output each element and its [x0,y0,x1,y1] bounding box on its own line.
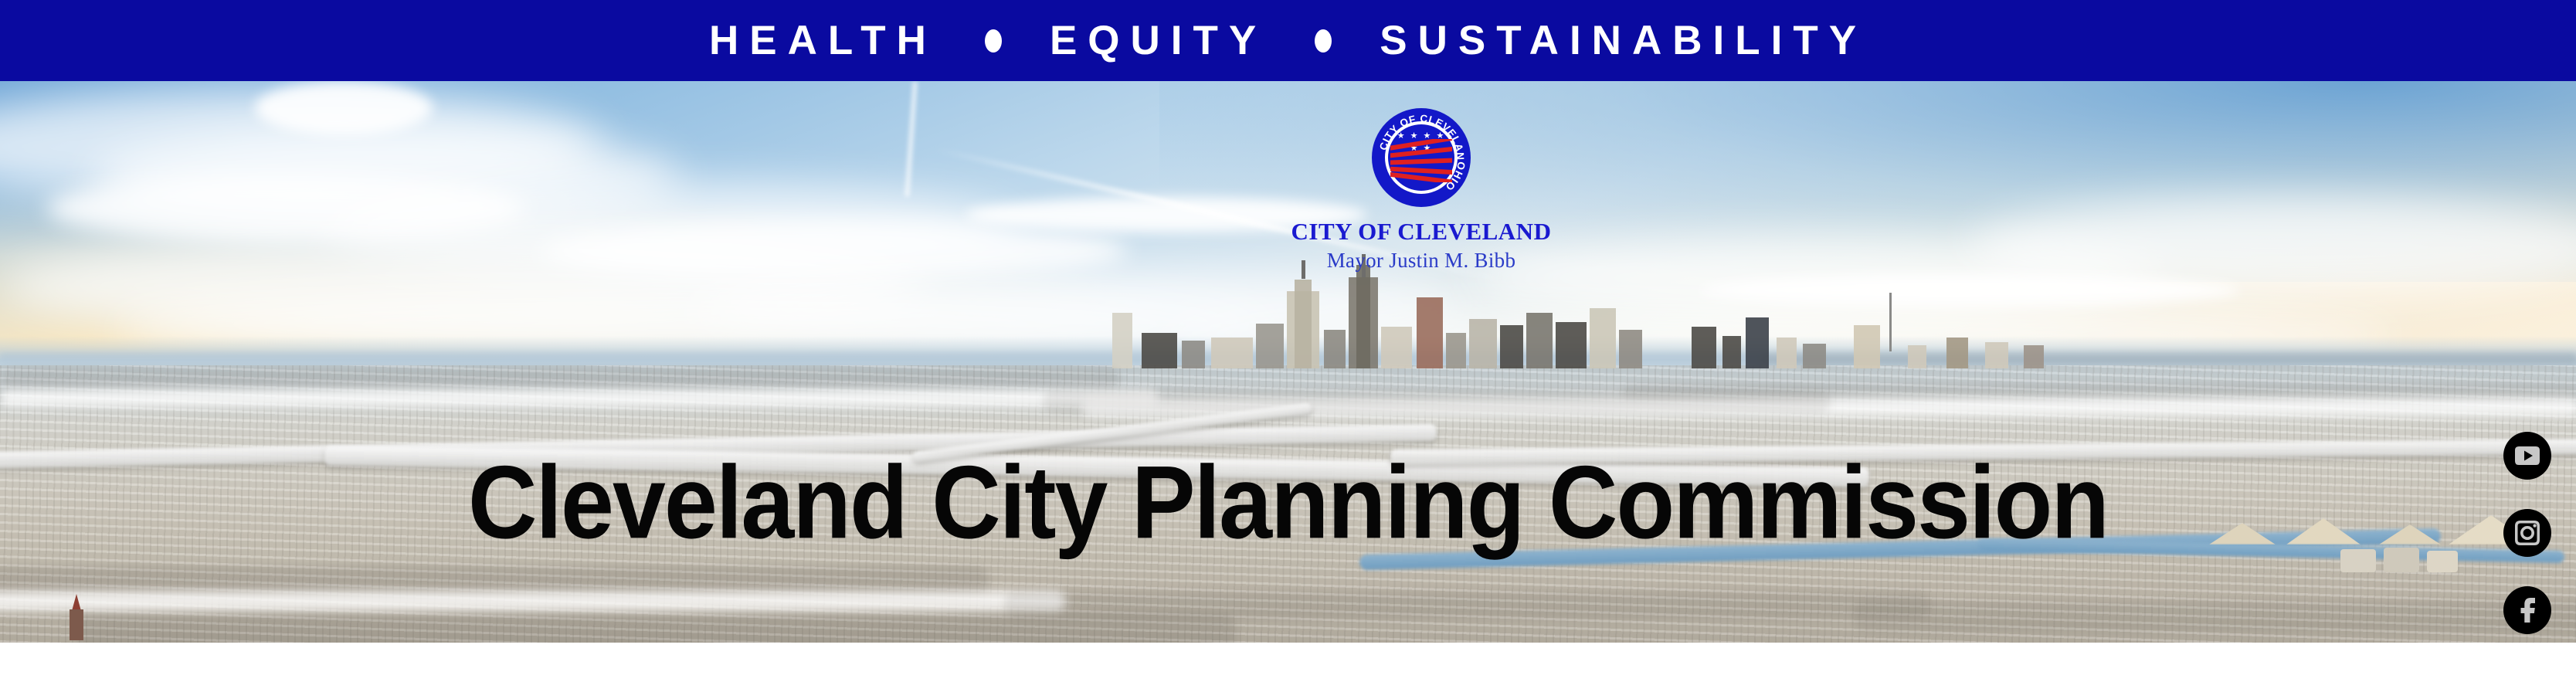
tagline-word-sustainability: SUSTAINABILITY [1380,20,1867,61]
treeline-band [0,368,1120,389]
city-of-cleveland-branding: ★ ★ ★ ★ ★ ★ CITY OF CLEVELAND [1251,108,1591,273]
building [1985,342,2008,368]
page-title: Cleveland City Planning Commission [0,451,2576,555]
building [1500,325,1523,368]
church-steeple [66,594,87,640]
east-side-buildings [1645,310,2078,368]
snow-field [0,591,1066,611]
building [1256,324,1284,368]
building [1417,297,1443,368]
building [1692,327,1716,368]
terminal-tower-shaft [1295,280,1312,368]
building [1556,322,1587,368]
building [1854,325,1880,368]
tagline-bar: HEALTH EQUITY SUSTAINABILITY [0,0,2576,81]
building [1946,338,1968,368]
city-of-cleveland-wordmark: CITY OF CLEVELAND [1291,218,1552,246]
facebook-icon[interactable] [2503,586,2551,634]
tagline-word-health: HEALTH [709,20,937,61]
cloud [255,81,433,135]
building [2024,345,2044,368]
bottom-strip [0,643,2576,682]
building [1803,344,1826,368]
building [1777,338,1797,368]
building [1746,317,1769,368]
building [1908,345,1926,368]
radio-mast [1889,293,1892,351]
svg-text:CITY OF CLEVELAND: CITY OF CLEVELAND [1372,108,1466,161]
building [1590,308,1616,368]
city-of-cleveland-seal-icon: ★ ★ ★ ★ ★ ★ CITY OF CLEVELAND [1372,108,1471,207]
seal-ring-text: CITY OF CLEVELAND OHIO [1372,108,1471,207]
building [1142,333,1177,368]
building [1324,330,1346,368]
snow-field [0,390,1159,407]
mayor-name: Mayor Justin M. Bibb [1327,249,1516,273]
tagline-separator-dot [985,29,1002,53]
tagline-separator-dot [1315,29,1332,53]
building [1722,336,1741,368]
building [1619,330,1642,368]
building [1381,327,1412,368]
planning-commission-banner: HEALTH EQUITY SUSTAINABILITY [0,0,2576,682]
building [1526,313,1553,368]
tagline-word-equity: EQUITY [1050,20,1267,61]
building [1112,313,1132,368]
key-tower-crown [1356,265,1370,368]
building [1182,341,1205,368]
urban-band [1043,390,1831,413]
downtown-skyline [1105,274,1645,368]
building [1469,319,1497,368]
building [1211,338,1253,368]
building [1446,333,1466,368]
foreground-rooftops [0,614,2576,643]
svg-text:OHIO: OHIO [1443,161,1468,193]
cloud [1699,274,2240,307]
